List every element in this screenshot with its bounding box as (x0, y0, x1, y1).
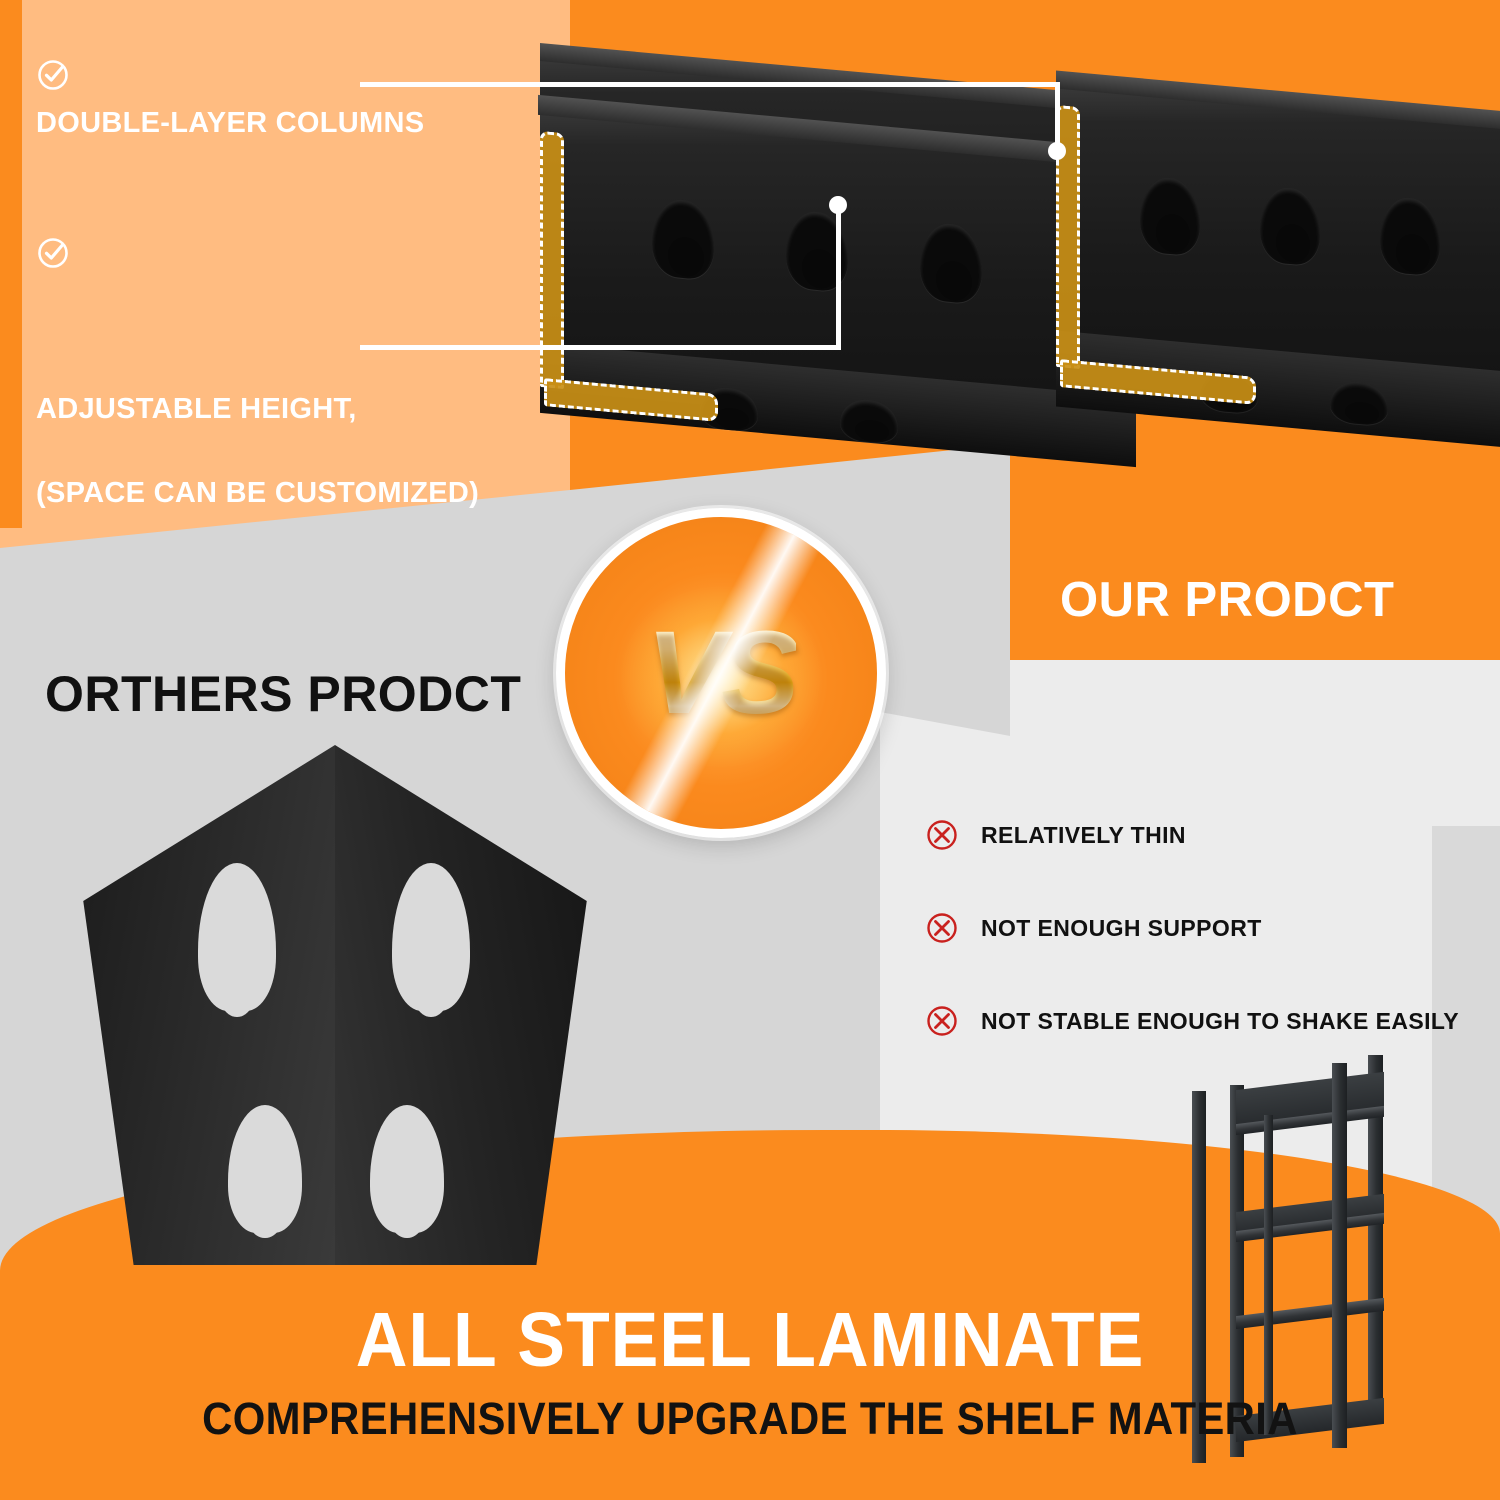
callout-dot-slot (829, 196, 847, 214)
cross-circle-icon (925, 1004, 959, 1038)
callout-line-right-vertical (1055, 82, 1060, 150)
con-label-1: NOT ENOUGH SUPPORT (981, 915, 1262, 942)
callout-dot-column-edge (1048, 142, 1066, 160)
feature-label-1: ADJUSTABLE HEIGHT, (36, 394, 556, 426)
double-layer-beam-photo (500, 70, 1500, 550)
con-item-0: RELATIVELY THIN (925, 818, 1465, 852)
feature-label-0: DOUBLE-LAYER COLUMNS (36, 108, 556, 140)
con-label-2: NOT STABLE ENOUGH TO SHAKE EASILY (981, 1008, 1459, 1035)
cross-circle-icon (925, 818, 959, 852)
versus-badge-icon: VS (556, 508, 886, 838)
con-item-1: NOT ENOUGH SUPPORT (925, 911, 1465, 945)
shelf-post-front-right (1332, 1063, 1347, 1448)
cross-circle-icon (925, 911, 959, 945)
infographic-canvas: DOUBLE-LAYER COLUMNS ADJUSTABLE HEIGHT, … (0, 0, 1500, 1500)
shelving-unit-photo (1190, 1055, 1455, 1450)
feature-label-2: (SPACE CAN BE CUSTOMIZED) (36, 478, 556, 510)
competitor-bracket-photo (70, 745, 600, 1265)
con-label-0: RELATIVELY THIN (981, 822, 1186, 849)
con-item-2: NOT STABLE ENOUGH TO SHAKE EASILY (925, 1004, 1465, 1038)
our-product-title: OUR PRODCT (1060, 572, 1394, 628)
check-circle-icon (36, 58, 70, 92)
check-circle-icon (36, 236, 70, 270)
feature-item-0 (36, 58, 556, 98)
feature-checklist: DOUBLE-LAYER COLUMNS ADJUSTABLE HEIGHT, … (36, 58, 556, 510)
others-product-title: ORTHERS PRODCT (45, 665, 521, 723)
banner-subtitle: COMPREHENSIVELY UPGRADE THE SHELF MATERI… (53, 1393, 1448, 1445)
orange-left-accent-strip (0, 0, 22, 528)
banner-title: ALL STEEL LAMINATE (53, 1296, 1448, 1385)
feature-item-1 (36, 236, 556, 276)
versus-light-flare (556, 508, 886, 838)
callout-line-slot-vertical (836, 205, 841, 350)
shelf-center-brace (1264, 1115, 1273, 1435)
